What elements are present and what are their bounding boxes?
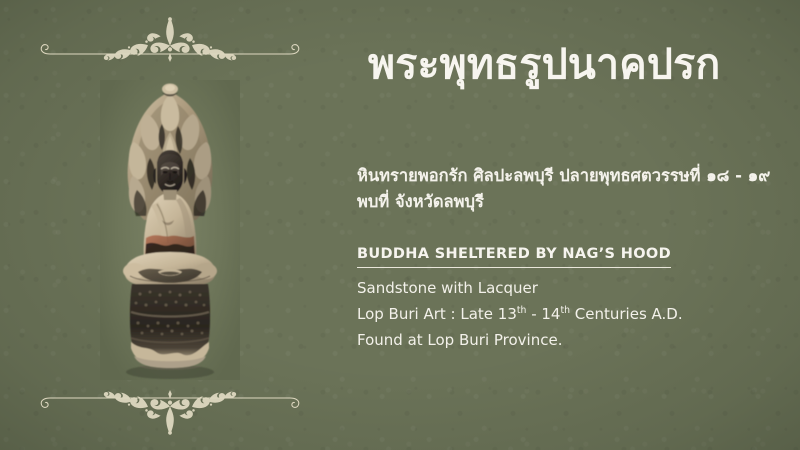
english-period-ordinal-2: th [560,305,570,316]
english-period: Lop Buri Art : Late 13th - 14th Centurie… [357,301,777,327]
page-title: พระพุทธรูปนาคปรก [368,44,720,85]
decorative-flourish-top-icon [36,14,304,70]
thai-description-line-2: พบที่ จังหวัดลพบุรี [357,189,777,215]
english-period-prefix: Lop Buri Art : Late 13 [357,305,517,323]
museum-label-slide: พระพุทธรูปนาคปรก หินทรายพอกรัก ศิลปะลพบุ… [0,0,800,450]
thai-description: หินทรายพอกรัก ศิลปะลพบุรี ปลายพุทธศตวรรษ… [357,163,777,215]
english-provenance: Found at Lop Buri Province. [357,327,777,353]
english-period-suffix: Centuries A.D. [570,305,683,323]
english-heading: BUDDHA SHELTERED BY NAG’S HOOD [357,246,671,268]
english-material: Sandstone with Lacquer [357,275,777,301]
artifact-photo [100,80,240,380]
english-period-mid: - 14 [526,305,560,323]
english-period-ordinal-1: th [517,305,527,316]
decorative-flourish-bottom-icon [36,382,304,438]
english-description: BUDDHA SHELTERED BY NAG’S HOOD Sandstone… [357,243,777,353]
label-text-column: พระพุทธรูปนาคปรก หินทรายพอกรัก ศิลปะลพบุ… [357,0,777,450]
thai-description-line-1: หินทรายพอกรัก ศิลปะลพบุรี ปลายพุทธศตวรรษ… [357,163,777,189]
buddha-naga-statue-image [100,80,240,380]
